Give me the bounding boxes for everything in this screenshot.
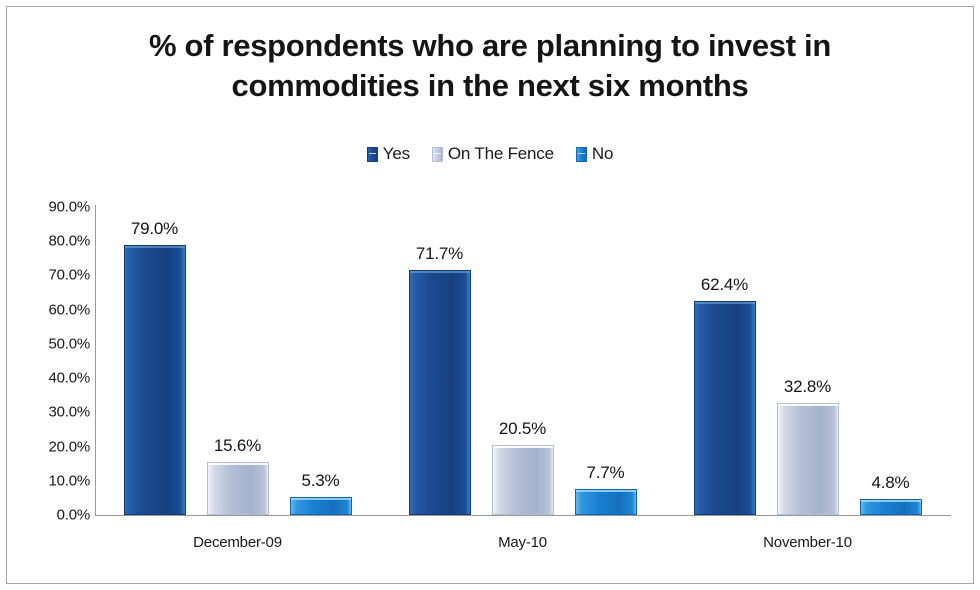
y-axis-tick-label: 80.0% <box>24 233 90 250</box>
legend-swatch-no-icon <box>576 147 587 162</box>
y-axis-tick-label: 10.0% <box>24 472 90 489</box>
y-axis-tick-label: 30.0% <box>24 404 90 421</box>
bar-value-label: 7.7% <box>587 463 625 483</box>
chart-legend: Yes On The Fence No <box>0 144 980 164</box>
legend-item-on-the-fence[interactable]: On The Fence <box>432 144 554 164</box>
legend-item-no[interactable]: No <box>576 144 613 164</box>
chart-title-line-1: % of respondents who are planning to inv… <box>80 26 900 66</box>
legend-item-yes[interactable]: Yes <box>367 144 410 164</box>
bar-on-the-fence-december-09[interactable]: 15.6% <box>207 462 269 515</box>
bar-no-december-09[interactable]: 5.3% <box>290 497 352 515</box>
bar-value-label: 71.7% <box>416 244 463 264</box>
y-axis-tick-label: 20.0% <box>24 438 90 455</box>
y-axis-tick-label: 60.0% <box>24 301 90 318</box>
legend-swatch-on-the-fence-icon <box>432 147 443 162</box>
y-axis-tick-label: 90.0% <box>24 199 90 216</box>
y-axis-tick-label: 0.0% <box>24 507 90 524</box>
y-axis-tick-label: 50.0% <box>24 335 90 352</box>
legend-label-on-the-fence: On The Fence <box>448 144 554 164</box>
bar-on-the-fence-november-10[interactable]: 32.8% <box>777 403 839 515</box>
x-axis-category-label: December-09 <box>193 534 282 551</box>
y-axis-tick-label: 40.0% <box>24 370 90 387</box>
bar-value-label: 20.5% <box>499 419 546 439</box>
x-axis-line <box>95 515 951 516</box>
bar-no-november-10[interactable]: 4.8% <box>860 499 922 515</box>
bar-yes-november-10[interactable]: 62.4% <box>694 301 756 515</box>
chart-container: % of respondents who are planning to inv… <box>0 0 980 590</box>
bar-on-the-fence-may-10[interactable]: 20.5% <box>492 445 554 515</box>
y-axis-tick-label: 70.0% <box>24 267 90 284</box>
x-axis-category-label: May-10 <box>498 534 547 551</box>
legend-label-yes: Yes <box>383 144 410 164</box>
bar-value-label: 4.8% <box>872 473 910 493</box>
bar-value-label: 62.4% <box>701 275 748 295</box>
plot-area: 79.0%15.6%5.3%71.7%20.5%7.7%62.4%32.8%4.… <box>95 207 950 515</box>
bar-value-label: 32.8% <box>784 377 831 397</box>
bar-value-label: 5.3% <box>302 471 340 491</box>
bar-value-label: 79.0% <box>131 219 178 239</box>
bar-value-label: 15.6% <box>214 436 261 456</box>
chart-title: % of respondents who are planning to inv… <box>80 26 900 105</box>
y-axis-tick-labels: 90.0%80.0%70.0%60.0%50.0%40.0%30.0%20.0%… <box>20 0 90 590</box>
x-axis-category-label: November-10 <box>763 534 852 551</box>
bar-yes-december-09[interactable]: 79.0% <box>124 245 186 515</box>
bar-yes-may-10[interactable]: 71.7% <box>409 270 471 515</box>
bar-no-may-10[interactable]: 7.7% <box>575 489 637 515</box>
legend-label-no: No <box>592 144 613 164</box>
x-axis-category-labels: December-09May-10November-10 <box>95 534 951 560</box>
legend-swatch-yes-icon <box>367 147 378 162</box>
chart-title-line-2: commodities in the next six months <box>80 66 900 106</box>
